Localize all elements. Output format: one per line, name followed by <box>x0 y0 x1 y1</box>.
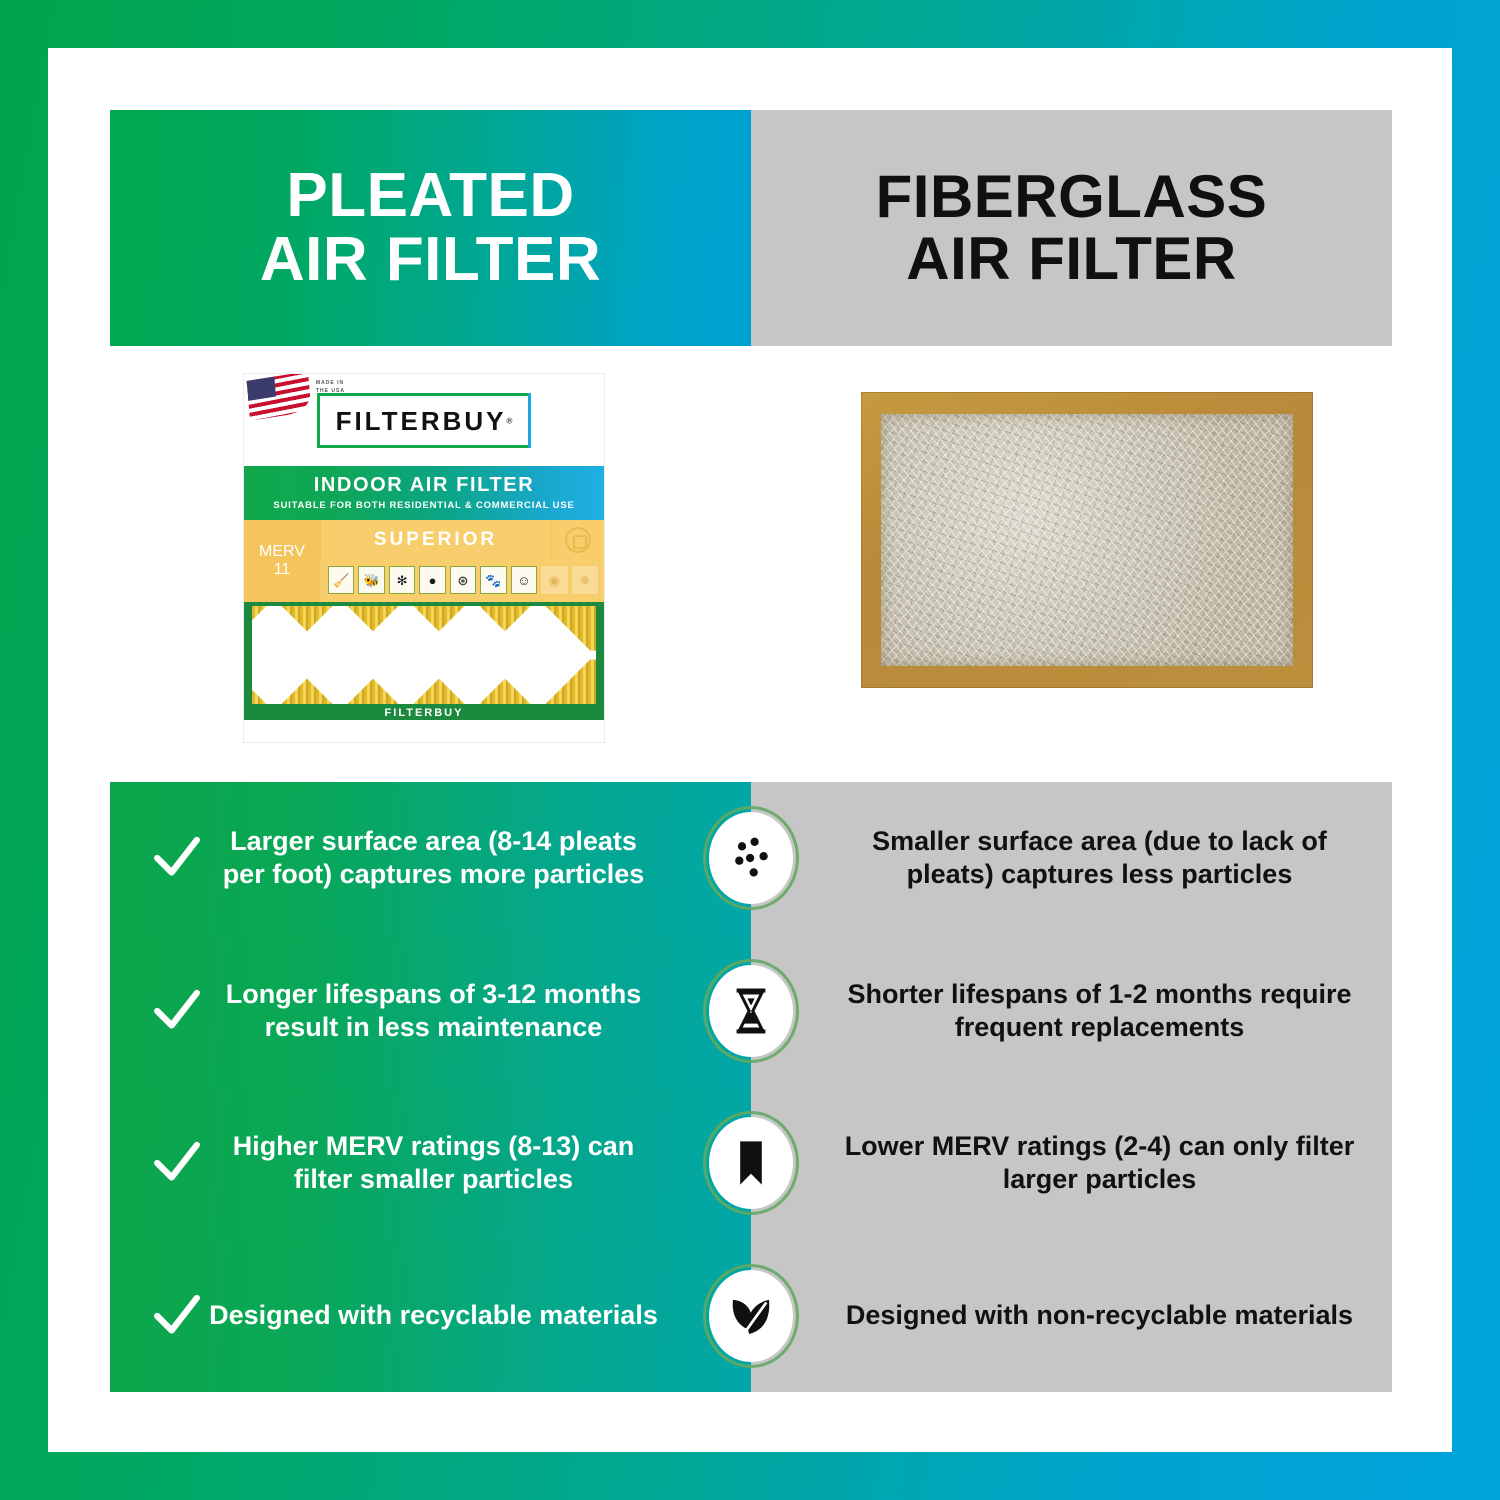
merv-label: MERV <box>259 543 305 561</box>
package-band: INDOOR AIR FILTER SUITABLE FOR BOTH RESI… <box>244 466 604 520</box>
pleated-filter-package-image: MADE IN THE USA FILTERBUY® INDOOR AIR FI… <box>244 374 604 742</box>
checkmark-icon <box>146 984 208 1038</box>
checkmark-icon <box>146 1136 208 1190</box>
lattice-diamond <box>481 606 594 704</box>
comparison-row-left: Longer lifespans of 3-12 months result i… <box>110 935 751 1088</box>
pollen-icon: ✻ <box>389 566 415 594</box>
fiberglass-product-cell <box>751 346 1392 782</box>
pleated-header-line1: PLEATED <box>286 164 574 228</box>
comparison-row-left: Designed with recyclable materials <box>110 1240 751 1393</box>
comparison-row-right: Smaller surface area (due to lack of ple… <box>751 782 1392 935</box>
comparison-row-right: Designed with non-recyclable materials <box>751 1240 1392 1393</box>
filterbuy-logo-text: FILTERBUY <box>336 406 507 436</box>
comparison-right-text: Smaller surface area (due to lack of ple… <box>843 825 1356 891</box>
merv-badge: MERV 11 <box>244 520 320 602</box>
bookmark-icon <box>703 1111 799 1215</box>
package-band-subtitle: SUITABLE FOR BOTH RESIDENTIAL & COMMERCI… <box>244 500 604 511</box>
leaf-recycle-icon <box>703 1264 799 1368</box>
comparison-left-text: Designed with recyclable materials <box>208 1299 659 1332</box>
icon-disc <box>709 1270 793 1362</box>
comparison-table: Larger surface area (8-14 pleats per foo… <box>110 782 1392 1392</box>
icon-disc <box>709 965 793 1057</box>
infographic-page: PLEATED AIR FILTER FIBERGLASS AIR FILTER… <box>0 0 1500 1500</box>
hourglass-icon <box>703 959 799 1063</box>
pleated-header-line2: AIR FILTER <box>260 228 601 292</box>
fiberglass-header: FIBERGLASS AIR FILTER <box>751 110 1392 346</box>
ul-ring-shape <box>565 527 591 553</box>
yellow-pleats <box>252 606 596 704</box>
pleated-media-area: FILTERBUY <box>244 602 604 720</box>
comparison-row: Higher MERV ratings (8-13) can filter sm… <box>110 1087 1392 1240</box>
checkmark-icon <box>146 1289 208 1343</box>
insect-icon: 🐝 <box>358 566 384 594</box>
comparison-row-left: Higher MERV ratings (8-13) can filter sm… <box>110 1087 751 1240</box>
odor-icon: ◉ <box>541 566 567 594</box>
grade-label: SUPERIOR <box>320 520 550 560</box>
package-gold-section: MERV 11 SUPERIOR 🧹 🐝 ✻ ● <box>244 520 604 602</box>
filterbuy-logo: FILTERBUY® <box>317 393 532 448</box>
pleated-header: PLEATED AIR FILTER <box>110 110 751 346</box>
usa-flag-icon <box>247 374 312 421</box>
bacteria-icon: ⊛ <box>450 566 476 594</box>
fiberglass-header-line2: AIR FILTER <box>906 228 1237 290</box>
product-image-row: MADE IN THE USA FILTERBUY® INDOOR AIR FI… <box>110 346 1392 782</box>
registered-trademark-icon: ® <box>507 416 513 425</box>
smoke-icon: ☺ <box>511 566 537 594</box>
bookmark-glyph <box>724 1136 778 1190</box>
comparison-left-text: Longer lifespans of 3-12 months result i… <box>208 978 659 1044</box>
pleated-product-cell: MADE IN THE USA FILTERBUY® INDOOR AIR FI… <box>110 346 751 782</box>
comparison-right-text: Designed with non-recyclable materials <box>843 1299 1356 1332</box>
fiberglass-header-line1: FIBERGLASS <box>876 166 1268 228</box>
comparison-row-right: Lower MERV ratings (2-4) can only filter… <box>751 1087 1392 1240</box>
mold-spore-icon: ● <box>419 566 445 594</box>
comparison-row: Designed with recyclable materials Desig… <box>110 1240 1392 1393</box>
icon-disc <box>709 1117 793 1209</box>
comparison-row-left: Larger surface area (8-14 pleats per foo… <box>110 782 751 935</box>
package-bottom-brand: FILTERBUY <box>244 707 604 719</box>
ul-certification-icon <box>550 520 604 560</box>
fiberglass-filter-image <box>861 392 1313 688</box>
comparison-right-text: Lower MERV ratings (2-4) can only filter… <box>843 1130 1356 1196</box>
icon-disc <box>709 812 793 904</box>
header-row: PLEATED AIR FILTER FIBERGLASS AIR FILTER <box>110 110 1392 346</box>
merv-value: 11 <box>274 561 291 579</box>
dust-icon: 🧹 <box>328 566 354 594</box>
voc-icon: ✵ <box>572 566 598 594</box>
checkmark-icon <box>146 831 208 885</box>
made-in-line1: MADE IN <box>316 380 345 388</box>
package-top-section: MADE IN THE USA FILTERBUY® <box>244 374 604 466</box>
fiberglass-mesh <box>881 414 1293 666</box>
pet-dander-icon: 🐾 <box>480 566 506 594</box>
comparison-left-text: Higher MERV ratings (8-13) can filter sm… <box>208 1130 659 1196</box>
leaf-recycle-glyph <box>724 1289 778 1343</box>
comparison-row: Longer lifespans of 3-12 months result i… <box>110 935 1392 1088</box>
comparison-row-right: Shorter lifespans of 1-2 months require … <box>751 935 1392 1088</box>
hourglass-glyph <box>724 984 778 1038</box>
particles-glyph <box>724 831 778 885</box>
comparison-row: Larger surface area (8-14 pleats per foo… <box>110 782 1392 935</box>
comparison-right-text: Shorter lifespans of 1-2 months require … <box>843 978 1356 1044</box>
particles-icon <box>703 806 799 910</box>
comparison-left-text: Larger surface area (8-14 pleats per foo… <box>208 825 659 891</box>
package-band-title: INDOOR AIR FILTER <box>244 474 604 497</box>
